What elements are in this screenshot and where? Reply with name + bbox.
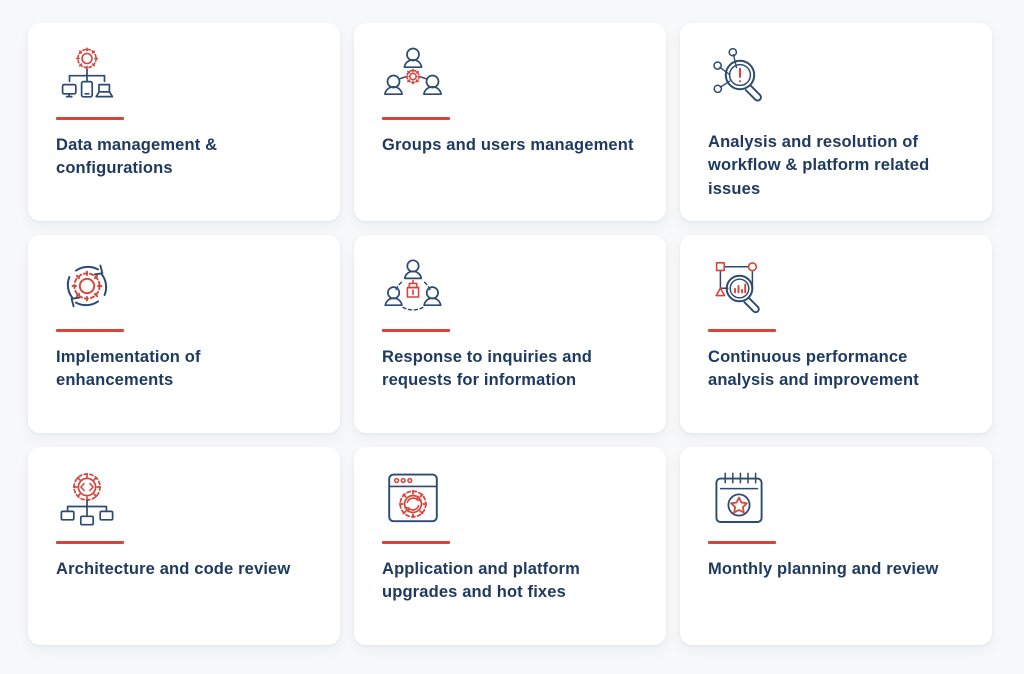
card-data-management-configurations[interactable]: Data management & configurations	[28, 23, 340, 221]
card-title: Response to inquiries and requests for i…	[382, 346, 640, 393]
card-title: Analysis and resolution of workflow & pl…	[708, 131, 966, 201]
card-continuous-performance-analysis[interactable]: Continuous performance analysis and impr…	[680, 235, 992, 433]
card-title: Architecture and code review	[56, 558, 290, 581]
card-analysis-and-resolution[interactable]: Analysis and resolution of workflow & pl…	[680, 23, 992, 221]
card-title: Implementation of enhancements	[56, 346, 314, 393]
accent-divider	[382, 329, 450, 332]
users-podium-icon	[382, 257, 444, 315]
users-group-gear-icon	[382, 45, 444, 103]
magnifier-bar-chart-nodes-icon	[708, 257, 770, 315]
accent-divider	[382, 541, 450, 544]
accent-divider	[56, 541, 124, 544]
card-implementation-of-enhancements[interactable]: Implementation of enhancements	[28, 235, 340, 433]
accent-divider	[382, 117, 450, 120]
browser-gear-refresh-icon	[382, 469, 444, 527]
card-architecture-and-code-review[interactable]: Architecture and code review	[28, 447, 340, 645]
accent-divider	[708, 329, 776, 332]
card-title: Application and platform upgrades and ho…	[382, 558, 640, 605]
card-groups-and-users-management[interactable]: Groups and users management	[354, 23, 666, 221]
accent-divider	[56, 329, 124, 332]
magnifier-alert-nodes-icon	[708, 45, 770, 103]
gear-code-nodes-icon	[56, 469, 118, 527]
calendar-star-icon	[708, 469, 770, 527]
card-response-to-inquiries[interactable]: Response to inquiries and requests for i…	[354, 235, 666, 433]
card-title: Groups and users management	[382, 134, 634, 157]
card-monthly-planning-and-review[interactable]: Monthly planning and review	[680, 447, 992, 645]
card-title: Data management & configurations	[56, 134, 314, 181]
card-title: Continuous performance analysis and impr…	[708, 346, 966, 393]
gear-refresh-cycle-icon	[56, 257, 118, 315]
service-cards-grid: Data management & configurations Groups …	[0, 0, 1024, 645]
card-title: Monthly planning and review	[708, 558, 938, 581]
gear-devices-network-icon	[56, 45, 118, 103]
accent-divider	[708, 541, 776, 544]
card-application-and-platform-upgrades[interactable]: Application and platform upgrades and ho…	[354, 447, 666, 645]
accent-divider	[56, 117, 124, 120]
